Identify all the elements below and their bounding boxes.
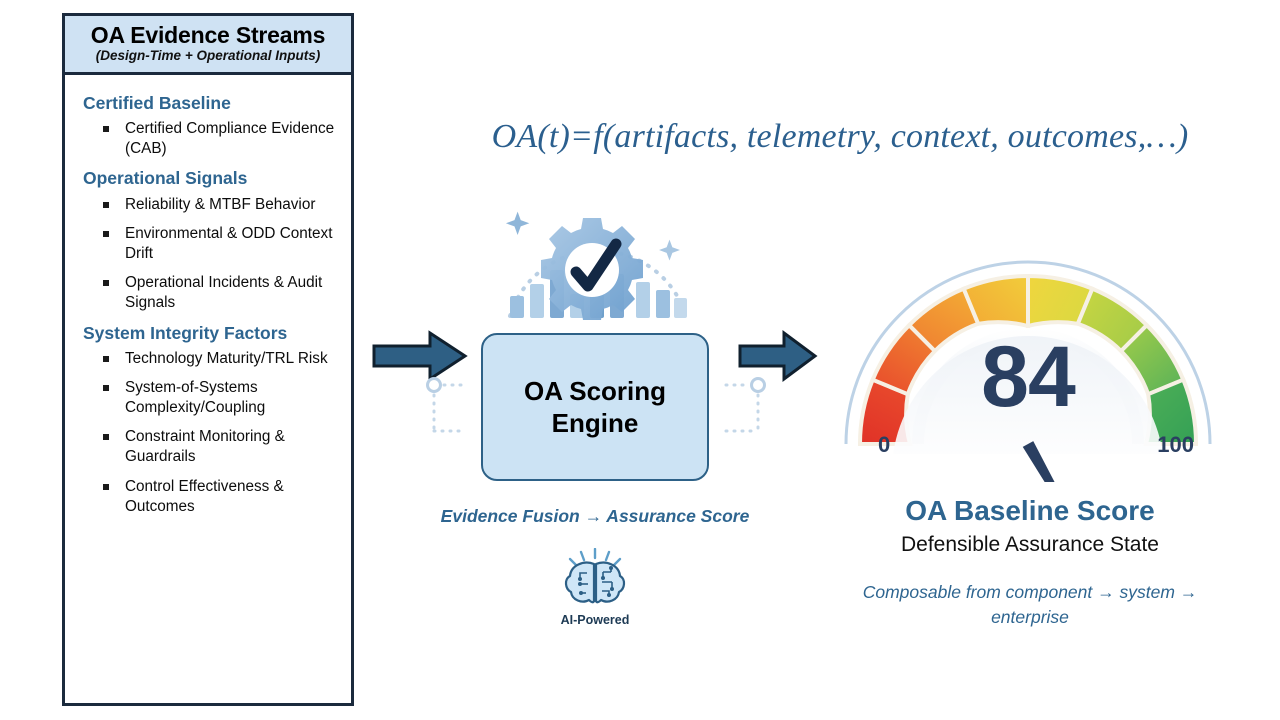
list-item-label: Reliability & MTBF Behavior [125, 196, 315, 213]
oa-baseline-score-title: OA Baseline Score [820, 495, 1240, 527]
group-heading-certified-baseline: Certified Baseline [83, 93, 341, 113]
list-item: System-of-Systems Complexity/Coupling [99, 378, 341, 418]
dotted-connector-left-icon [424, 375, 470, 435]
bullet-square-icon [103, 385, 109, 391]
gauge-min-label: 0 [878, 432, 890, 458]
bullet-square-icon [103, 434, 109, 440]
list-item-label: Control Effectiveness & Outcomes [125, 478, 284, 515]
group-list-certified-baseline: Certified Compliance Evidence (CAB) [81, 119, 341, 159]
group-heading-system-integrity-factors: System Integrity Factors [83, 323, 341, 343]
list-item: Operational Incidents & Audit Signals [99, 273, 341, 313]
bullet-square-icon [103, 356, 109, 362]
list-item-label: Certified Compliance Evidence (CAB) [125, 120, 334, 157]
list-item-label: Environmental & ODD Context Drift [125, 225, 332, 262]
bullet-square-icon [103, 484, 109, 490]
panel-subtitle: (Design-Time + Operational Inputs) [71, 49, 345, 64]
list-item: Technology Maturity/TRL Risk [99, 349, 341, 369]
ai-powered-label: AI-Powered [540, 613, 650, 627]
list-item: Constraint Monitoring & Guardrails [99, 427, 341, 467]
group-heading-operational-signals: Operational Signals [83, 168, 341, 188]
gauge-score-value: 84 [832, 334, 1224, 420]
list-item-label: Technology Maturity/TRL Risk [125, 350, 328, 367]
list-item: Control Effectiveness & Outcomes [99, 477, 341, 517]
panel-header: OA Evidence Streams (Design-Time + Opera… [65, 16, 351, 75]
panel-body: Certified Baseline Certified Compliance … [65, 75, 351, 517]
oa-scoring-engine-box[interactable]: OA Scoring Engine [481, 333, 709, 481]
panel-title: OA Evidence Streams [71, 23, 345, 47]
bullet-square-icon [103, 126, 109, 132]
bullet-square-icon [103, 231, 109, 237]
oa-baseline-score-note: Composable from component → system → ent… [840, 580, 1220, 631]
list-item: Certified Compliance Evidence (CAB) [99, 119, 341, 159]
list-item: Reliability & MTBF Behavior [99, 195, 341, 215]
group-list-system-integrity-factors: Technology Maturity/TRL Risk System-of-S… [81, 349, 341, 517]
group-list-operational-signals: Reliability & MTBF Behavior Environmenta… [81, 195, 341, 314]
bullet-square-icon [103, 280, 109, 286]
brain-icon [558, 548, 632, 610]
oa-scoring-engine-label: OA Scoring Engine [483, 375, 707, 440]
evidence-fusion-caption: Evidence Fusion → Assurance Score [395, 506, 795, 527]
bullet-square-icon [103, 202, 109, 208]
analytics-gear-icon [488, 198, 708, 343]
arrow-engine-to-score [738, 329, 818, 383]
oa-formula: OA(t)=f(artifacts, telemetry, context, o… [455, 118, 1225, 156]
list-item: Environmental & ODD Context Drift [99, 224, 341, 264]
oa-baseline-score-subtitle: Defensible Assurance State [820, 533, 1240, 557]
list-item-label: Operational Incidents & Audit Signals [125, 274, 322, 311]
list-item-label: System-of-Systems Complexity/Coupling [125, 379, 265, 416]
gauge-max-label: 100 [1157, 432, 1194, 458]
ai-powered-block: AI-Powered [540, 548, 650, 627]
evidence-streams-panel: OA Evidence Streams (Design-Time + Opera… [62, 13, 354, 706]
list-item-label: Constraint Monitoring & Guardrails [125, 428, 285, 465]
oa-score-gauge: 84 0 100 [832, 182, 1224, 482]
dotted-connector-right-icon [722, 375, 768, 435]
